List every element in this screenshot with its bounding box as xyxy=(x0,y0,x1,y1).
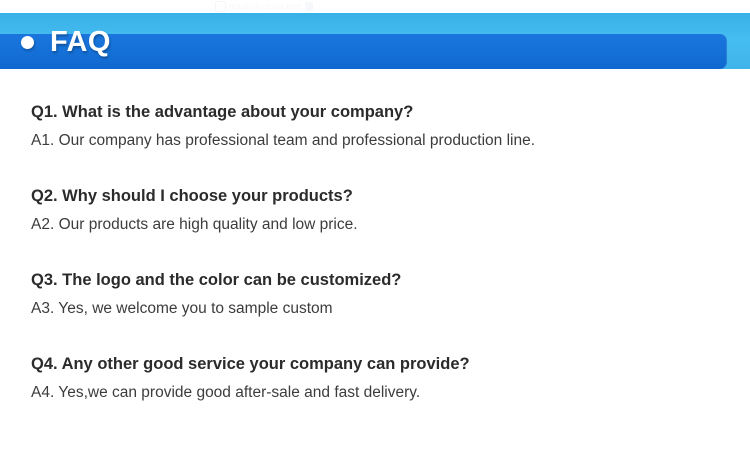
faq-item: Q2. Why should I choose your products? A… xyxy=(31,183,731,238)
faq-answer: A2. Our products are high quality and lo… xyxy=(31,211,731,238)
faq-item: Q1. What is the advantage about your com… xyxy=(31,99,731,154)
faq-answer: A1. Our company has professional team an… xyxy=(31,127,731,154)
watermark-text: made-in-china.com xyxy=(229,2,302,11)
faq-list: Q1. What is the advantage about your com… xyxy=(31,99,731,406)
watermark: made-in-china.com xyxy=(215,0,335,13)
bullet-dot-icon xyxy=(21,36,34,49)
faq-item: Q4. Any other good service your company … xyxy=(31,351,731,406)
faq-question: Q3. The logo and the color can be custom… xyxy=(31,267,731,294)
faq-question: Q2. Why should I choose your products? xyxy=(31,183,731,210)
faq-item: Q3. The logo and the color can be custom… xyxy=(31,267,731,322)
watermark-badge-icon xyxy=(305,2,313,11)
faq-question: Q4. Any other good service your company … xyxy=(31,351,731,378)
banner-content: FAQ xyxy=(0,13,750,69)
page-title: FAQ xyxy=(50,28,111,57)
faq-answer: A4. Yes,we can provide good after-sale a… xyxy=(31,379,731,406)
watermark-logo-icon xyxy=(215,1,226,12)
faq-answer: A3. Yes, we welcome you to sample custom xyxy=(31,295,731,322)
faq-banner: FAQ xyxy=(0,13,750,69)
faq-question: Q1. What is the advantage about your com… xyxy=(31,99,731,126)
